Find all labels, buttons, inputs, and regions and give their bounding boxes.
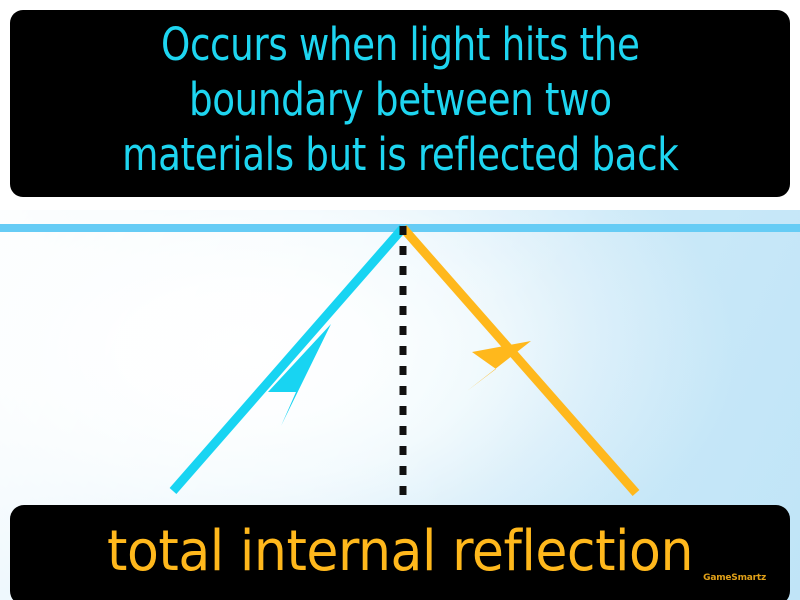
definition-banner: Occurs when light hits the boundary betw…: [10, 10, 790, 197]
definition-text: Occurs when light hits the boundary betw…: [122, 18, 678, 183]
incident-ray-arrow: [173, 228, 403, 491]
watermark-label: GameSmartz: [703, 573, 766, 583]
term-label: total internal reflection: [107, 524, 693, 580]
reflected-ray-arrow: [403, 228, 636, 493]
term-banner: total internal reflection GameSmartz: [10, 505, 790, 600]
flashcard-root: Occurs when light hits the boundary betw…: [0, 0, 800, 600]
